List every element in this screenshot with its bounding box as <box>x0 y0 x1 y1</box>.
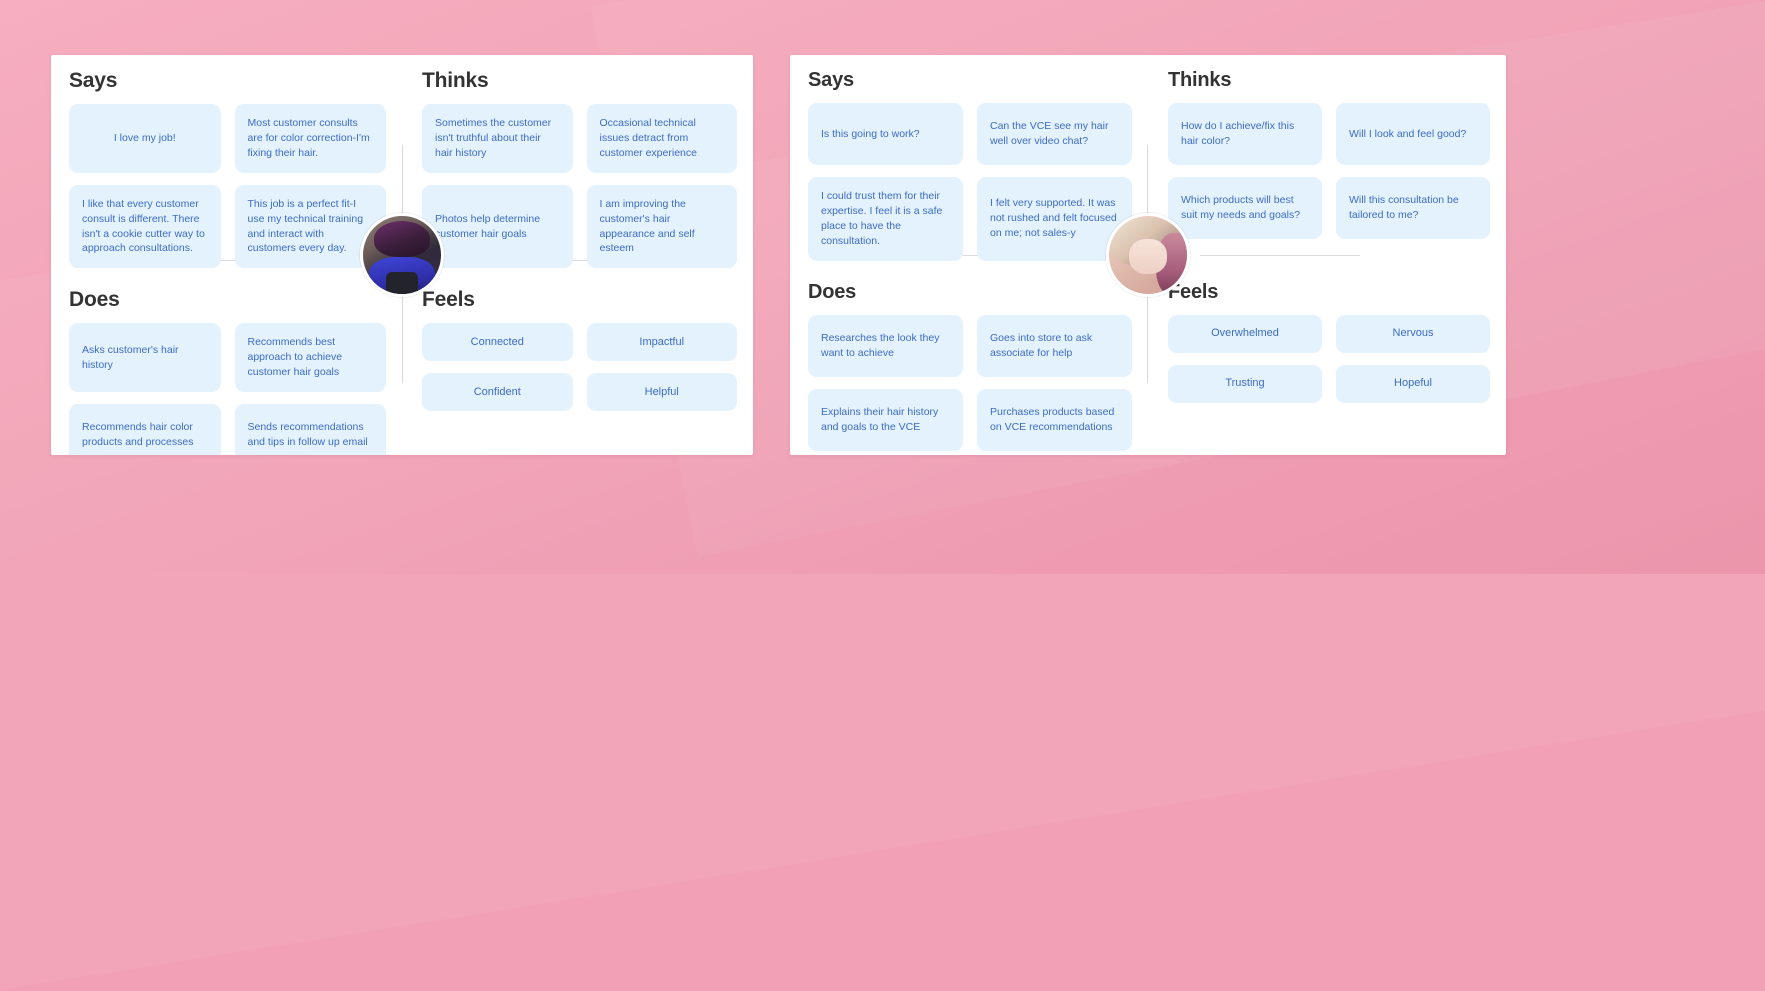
quadrant-thinks: Thinks Sometimes the customer isn't trut… <box>402 55 753 274</box>
card-item[interactable]: I like that every customer consult is di… <box>69 185 221 269</box>
card-item[interactable]: I love my job! <box>69 104 221 173</box>
card-item[interactable]: Sometimes the customer isn't truthful ab… <box>422 104 573 173</box>
card-grid-does: Asks customer's hair history Recommends … <box>69 323 386 455</box>
quadrant-does: Does Researches the look they want to ac… <box>790 267 1148 455</box>
quadrant-title-does: Does <box>69 288 386 312</box>
card-item[interactable]: Most customer consults are for color cor… <box>235 104 387 173</box>
quadrant-title-does: Does <box>808 281 1132 304</box>
quadrant-thinks: Thinks How do I achieve/fix this hair co… <box>1148 55 1506 267</box>
card-grid-feels: Overwhelmed Nervous Trusting Hopeful <box>1168 315 1490 403</box>
quadrant-title-says: Says <box>69 69 386 93</box>
card-item[interactable]: I am improving the customer's hair appea… <box>587 185 738 269</box>
card-item[interactable]: Overwhelmed <box>1168 315 1322 353</box>
card-item[interactable]: Helpful <box>587 373 738 411</box>
card-item[interactable]: Asks customer's hair history <box>69 323 221 392</box>
card-item[interactable]: Nervous <box>1336 315 1490 353</box>
quadrant-feels: Feels Overwhelmed Nervous Trusting Hopef… <box>1148 267 1506 455</box>
quadrant-title-feels: Feels <box>422 288 737 312</box>
card-item[interactable]: Is this going to work? <box>808 103 963 165</box>
card-item[interactable]: Researches the look they want to achieve <box>808 315 963 377</box>
card-item[interactable]: Explains their hair history and goals to… <box>808 389 963 451</box>
card-item[interactable]: Confident <box>422 373 573 411</box>
quadrant-says: Says I love my job! Most customer consul… <box>51 55 402 274</box>
empathy-map-panel-customer: Says Is this going to work? Can the VCE … <box>790 55 1506 455</box>
quadrant-title-thinks: Thinks <box>422 69 737 93</box>
card-item[interactable]: Occasional technical issues detract from… <box>587 104 738 173</box>
card-item[interactable]: Will I look and feel good? <box>1336 103 1490 165</box>
customer-avatar <box>1106 213 1190 297</box>
quadrant-title-thinks: Thinks <box>1168 69 1490 92</box>
card-grid-says: I love my job! Most customer consults ar… <box>69 104 386 268</box>
card-item[interactable]: Sends recommendations and tips in follow… <box>235 404 387 455</box>
card-grid-does: Researches the look they want to achieve… <box>808 315 1132 451</box>
card-item[interactable]: Impactful <box>587 323 738 361</box>
card-item[interactable]: Which products will best suit my needs a… <box>1168 177 1322 239</box>
card-grid-feels: Connected Impactful Confident Helpful <box>422 323 737 411</box>
empathy-map-panel-stylist: Says I love my job! Most customer consul… <box>51 55 753 455</box>
card-item[interactable]: Connected <box>422 323 573 361</box>
card-item[interactable]: Trusting <box>1168 365 1322 403</box>
card-item[interactable]: Purchases products based on VCE recommen… <box>977 389 1132 451</box>
quadrant-does: Does Asks customer's hair history Recomm… <box>51 274 402 455</box>
stylist-avatar <box>360 213 444 297</box>
card-item[interactable]: How do I achieve/fix this hair color? <box>1168 103 1322 165</box>
quadrant-title-says: Says <box>808 69 1132 92</box>
card-item[interactable]: Will this consultation be tailored to me… <box>1336 177 1490 239</box>
card-item[interactable]: Photos help determine customer hair goal… <box>422 185 573 269</box>
card-grid-says: Is this going to work? Can the VCE see m… <box>808 103 1132 261</box>
card-item[interactable]: Can the VCE see my hair well over video … <box>977 103 1132 165</box>
card-item[interactable]: Goes into store to ask associate for hel… <box>977 315 1132 377</box>
card-item[interactable]: I could trust them for their expertise. … <box>808 177 963 261</box>
quadrant-title-feels: Feels <box>1168 281 1490 304</box>
card-grid-thinks: How do I achieve/fix this hair color? Wi… <box>1168 103 1490 239</box>
card-item[interactable]: Hopeful <box>1336 365 1490 403</box>
card-item[interactable]: Recommends hair color products and proce… <box>69 404 221 455</box>
quadrant-says: Says Is this going to work? Can the VCE … <box>790 55 1148 267</box>
card-item[interactable]: Recommends best approach to achieve cust… <box>235 323 387 392</box>
card-grid-thinks: Sometimes the customer isn't truthful ab… <box>422 104 737 268</box>
quadrant-feels: Feels Connected Impactful Confident Help… <box>402 274 753 455</box>
